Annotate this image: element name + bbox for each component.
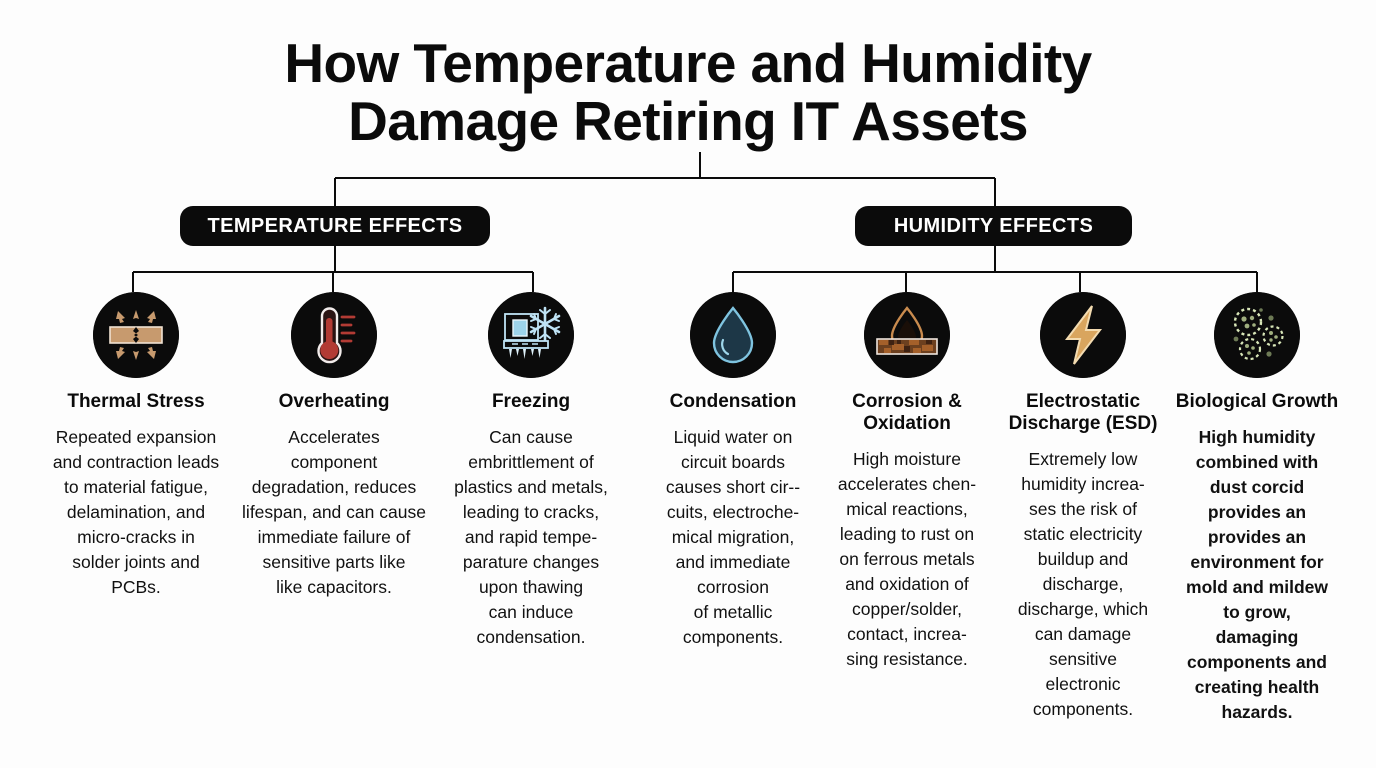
thermal-stress-icon bbox=[93, 292, 179, 378]
item-description: High moisture accelerates chen- mical re… bbox=[824, 447, 990, 672]
item-description: Can cause embrittlement of plastics and … bbox=[433, 425, 629, 650]
item-title: Condensation bbox=[642, 391, 824, 413]
thermometer-icon bbox=[291, 292, 377, 378]
item-thermal-stress: Thermal Stress Repeated expansion and co… bbox=[36, 292, 236, 600]
page-title: How Temperature and Humidity Damage Reti… bbox=[0, 34, 1376, 150]
item-title: Electrostatic Discharge (ESD) bbox=[996, 391, 1170, 435]
item-description: Extremely low humidity increa- ses the r… bbox=[996, 447, 1170, 722]
rust-droplet-icon bbox=[864, 292, 950, 378]
item-title: Corrosion & Oxidation bbox=[824, 391, 990, 435]
microbe-icon bbox=[1214, 292, 1300, 378]
item-biological-growth: Biological Growth High humidity combined… bbox=[1174, 292, 1340, 725]
branch-badge-humidity-effects[interactable]: HUMIDITY EFFECTS bbox=[855, 206, 1132, 246]
item-description: High humidity combined with dust corcid … bbox=[1174, 425, 1340, 725]
item-corrosion-oxidation: Corrosion & Oxidation High moisture acce… bbox=[824, 292, 990, 672]
branch-badge-temperature-effects[interactable]: TEMPERATURE EFFECTS bbox=[180, 206, 490, 246]
item-overheating: Overheating Accelerates component degrad… bbox=[234, 292, 434, 600]
snowflake-circuit-icon bbox=[488, 292, 574, 378]
title-line-1: How Temperature and Humidity bbox=[0, 34, 1376, 92]
lightning-bolt-icon bbox=[1040, 292, 1126, 378]
title-line-2: Damage Retiring IT Assets bbox=[0, 92, 1376, 150]
item-title: Biological Growth bbox=[1174, 391, 1340, 413]
infographic-page: How Temperature and Humidity Damage Reti… bbox=[0, 0, 1376, 768]
item-title: Thermal Stress bbox=[36, 391, 236, 413]
item-title: Overheating bbox=[234, 391, 434, 413]
item-description: Repeated expansion and contraction leads… bbox=[36, 425, 236, 600]
item-freezing: Freezing Can cause embrittlement of plas… bbox=[433, 292, 629, 650]
item-electrostatic-discharge: Electrostatic Discharge (ESD) Extremely … bbox=[996, 292, 1170, 722]
item-description: Liquid water on circuit boards causes sh… bbox=[642, 425, 824, 650]
item-title: Freezing bbox=[433, 391, 629, 413]
water-droplet-icon bbox=[690, 292, 776, 378]
item-description: Accelerates component degradation, reduc… bbox=[234, 425, 434, 600]
item-condensation: Condensation Liquid water on circuit boa… bbox=[642, 292, 824, 650]
